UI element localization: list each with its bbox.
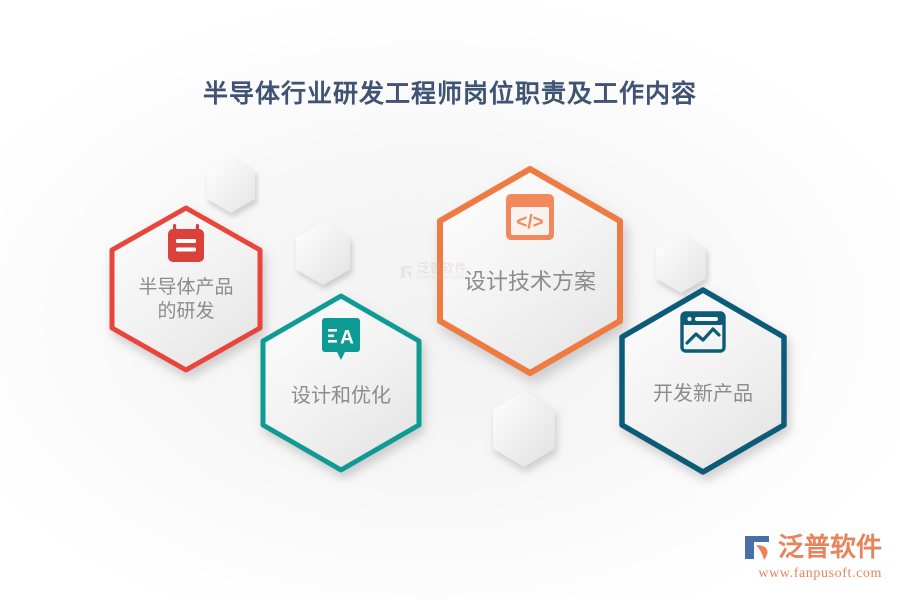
node-new-product[interactable]: 开发新产品 [604, 282, 802, 480]
page-title: 半导体行业研发工程师岗位职责及工作内容 [0, 74, 900, 110]
brand-logo: 泛普软件 www.fanpusoft.com [743, 532, 882, 582]
fanpu-logo-icon [743, 532, 773, 562]
brand-name: 泛普软件 [778, 534, 882, 560]
deco-hex-4 [482, 388, 566, 478]
brand-row: 泛普软件 [743, 532, 882, 562]
fanpu-watermark-icon [400, 264, 414, 280]
slide-canvas: 半导体行业研发工程师岗位职责及工作内容 [0, 0, 900, 600]
brand-url: www.fanpusoft.com [758, 566, 882, 582]
deco-hex-2 [290, 220, 356, 292]
node-design-optimize[interactable]: A 设计和优化 [246, 288, 436, 478]
